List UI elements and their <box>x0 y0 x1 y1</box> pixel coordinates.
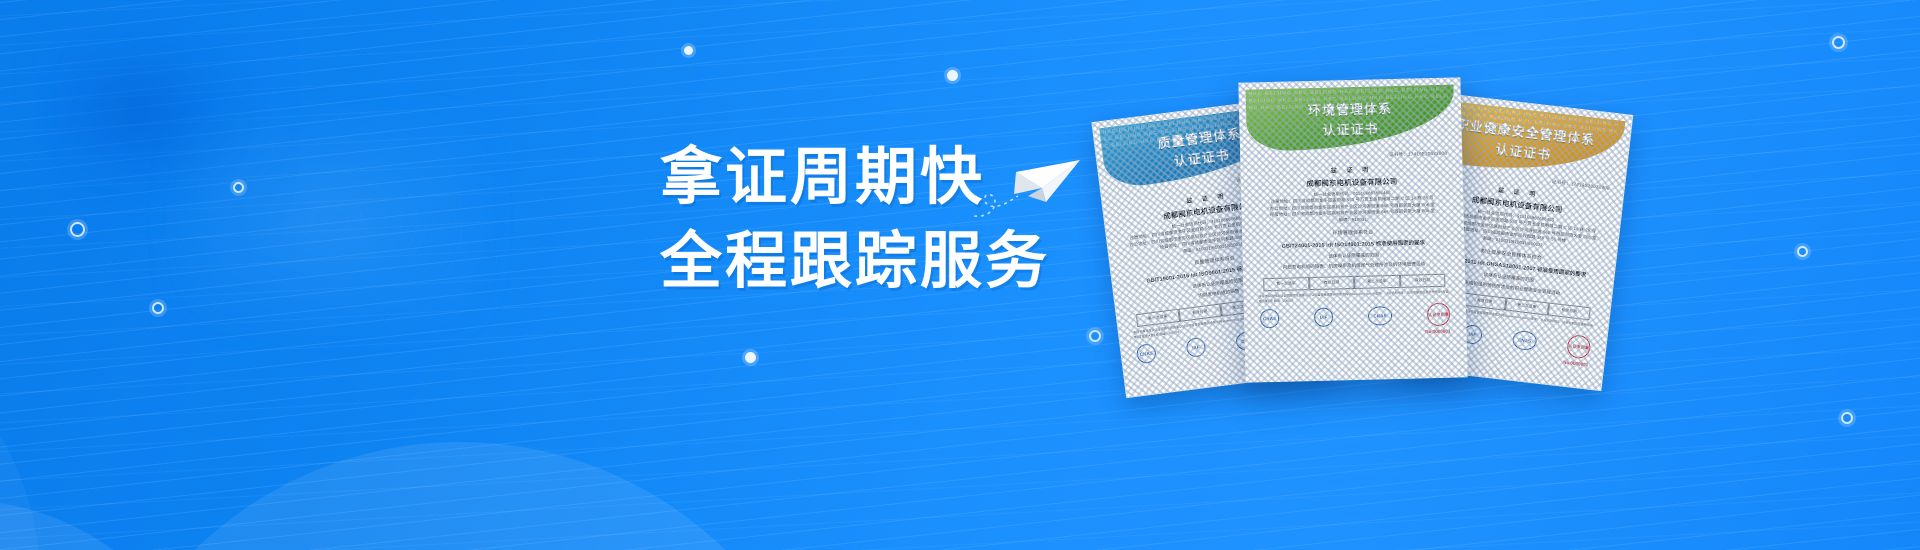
red-stamp-seal-icon: 认证专用章 <box>1427 303 1451 327</box>
iaf-seal-icon: IAF <box>1185 337 1206 358</box>
cnas-logo-icon: CNAS <box>1368 306 1392 326</box>
paper-plane-icon <box>968 144 1088 224</box>
particle-dot <box>947 70 958 81</box>
particle-dot <box>745 352 756 363</box>
audit-box: 有效日期 <box>1400 274 1446 288</box>
cnas-logo-icon: CNAS <box>1512 330 1538 352</box>
certificate-title-line2: 认证证书 <box>1322 118 1378 138</box>
certificate-header-environment: HKC BEIJING HKC BEIJING HKC BEIJING HKC … <box>1246 85 1455 152</box>
background-circle-lower-left <box>0 500 220 550</box>
cnas-seal-icon: CNAS <box>1136 343 1157 364</box>
certificate-scope-label: 该体系认证所覆盖的范围 <box>1259 251 1449 262</box>
background-circle-bottom <box>80 442 840 550</box>
particle-ring <box>1089 330 1101 342</box>
particle-ring <box>233 182 244 193</box>
particle-ring <box>1841 412 1853 424</box>
cnas-seal-icon: CNAS <box>1260 309 1279 328</box>
certificate-scope-text: 内燃发电机组的销售、机房噪声及机组尾气处理所涉及的环境管理活动 <box>1259 261 1449 272</box>
promo-banner: 拿证周期快 全程跟踪服务 HKC BEIJING HKC BEIJING HKC… <box>0 0 1920 550</box>
particle-dot <box>684 46 693 55</box>
background-blob-light <box>180 120 480 320</box>
certificate-footer-number: No.0000001 <box>1563 360 1589 368</box>
red-stamp-seal-icon: 认证专用章 <box>1566 334 1591 359</box>
certificate-group: HKC BEIJING HKC BEIJING HKC BEIJING HKC … <box>1108 72 1920 402</box>
audit-box: 第二次监审 <box>1354 275 1400 289</box>
particle-ring <box>152 302 164 314</box>
iaf-seal-icon: IAF <box>1314 308 1333 327</box>
headline-line-2: 全程跟踪服务 <box>660 220 1050 304</box>
audit-box: 第一次监审 <box>1263 277 1309 291</box>
certificate-standard: GB/T24001-2016 idt ISO14001:2015 标准使用国家的… <box>1258 238 1448 251</box>
certificate-environment[interactable]: HKC BEIJING HKC BEIJING HKC BEIJING HKC … <box>1238 77 1467 382</box>
certificate-company: 成都闽东电机设备有限公司 <box>1257 175 1447 191</box>
particle-ring <box>1832 36 1845 49</box>
certificate-proof-label: 兹 证 明 <box>1256 163 1446 177</box>
certificate-system-label: 环境管理体系符合 <box>1258 227 1448 239</box>
certificate-footer-number: No.0000001 <box>1425 329 1450 335</box>
particle-ring <box>70 222 85 237</box>
audit-box: 有效日期 <box>1309 276 1355 290</box>
certificate-title-line1: 环境管理体系 <box>1308 98 1392 119</box>
